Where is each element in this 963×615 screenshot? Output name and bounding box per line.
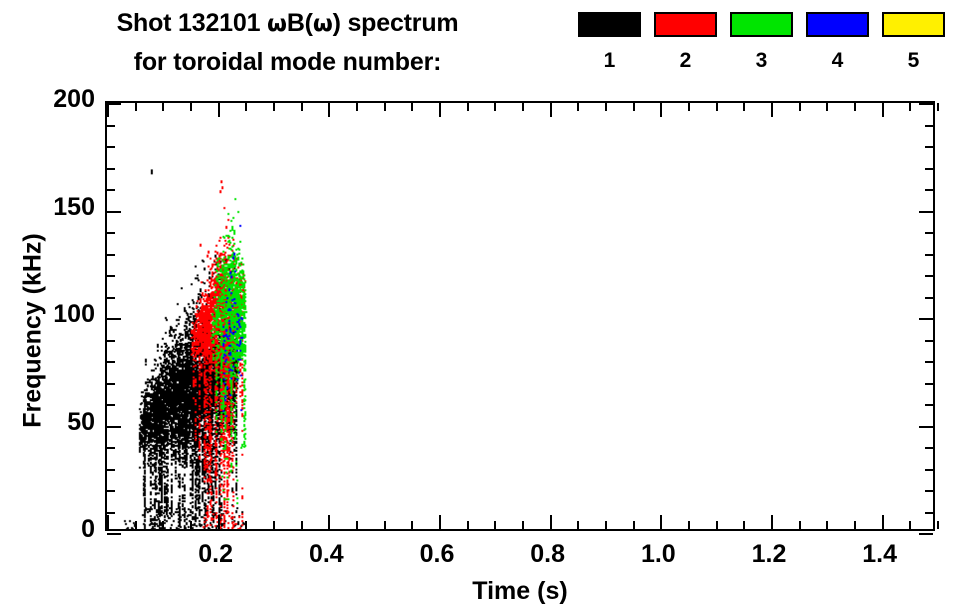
legend-item-3: 3 [730,12,793,72]
x-tick-bottom [494,521,496,529]
y-tick-right [925,189,933,191]
x-tick-bottom [660,515,662,529]
y-tick-left [107,318,121,320]
x-tick-top [301,103,303,111]
x-tick-bottom [218,515,220,529]
y-tick-right [919,103,933,105]
legend-label-2: 2 [654,50,717,72]
x-tick-top [550,103,552,117]
y-tick-label: 100 [30,300,95,329]
legend-label-3: 3 [730,50,793,72]
y-tick-left [107,103,121,105]
x-tick-bottom [716,521,718,529]
y-tick-right [925,490,933,492]
x-tick-bottom [162,521,164,529]
x-tick-bottom [356,521,358,529]
y-tick-right [919,533,933,535]
x-tick-bottom [909,521,911,529]
x-tick-bottom [937,521,939,529]
x-tick-bottom [771,515,773,529]
x-tick-top [273,103,275,111]
x-tick-top [439,103,441,117]
chart-title: Shot 132101 ωB(ω) spectrum for toroidal … [0,4,575,81]
x-tick-label: 1.2 [724,540,814,569]
x-tick-top [937,103,939,111]
x-tick-top [162,103,164,111]
y-tick-left [107,469,115,471]
x-tick-top [633,103,635,111]
y-tick-left [107,297,115,299]
omega-symbol-2: ω [313,11,333,37]
legend-swatch-3 [730,12,793,37]
y-tick-right [925,469,933,471]
x-tick-top [743,103,745,111]
title-line-1-mid: B( [287,9,313,37]
y-tick-left [107,340,115,342]
legend-label-5: 5 [882,50,945,72]
x-tick-bottom [411,521,413,529]
x-tick-bottom [743,521,745,529]
x-tick-top [107,103,109,117]
x-tick-bottom [882,515,884,529]
x-tick-label: 1.0 [613,540,703,569]
x-tick-bottom [577,521,579,529]
x-tick-top [328,103,330,117]
legend-label-1: 1 [578,50,641,72]
x-tick-top [356,103,358,111]
x-tick-label: 1.4 [835,540,925,569]
y-tick-right [919,426,933,428]
y-tick-label: 150 [30,193,95,222]
x-tick-bottom [190,521,192,529]
x-tick-top [577,103,579,111]
x-tick-top [411,103,413,111]
plot-frame [105,101,935,531]
x-tick-bottom [328,515,330,529]
x-tick-top [135,103,137,111]
x-tick-bottom [854,521,856,529]
x-tick-bottom [522,521,524,529]
x-tick-bottom [135,521,137,529]
x-tick-bottom [826,521,828,529]
x-tick-bottom [550,515,552,529]
x-tick-bottom [439,515,441,529]
y-tick-right [925,254,933,256]
y-tick-label: 200 [30,85,95,114]
x-tick-top [909,103,911,111]
y-tick-right [925,340,933,342]
y-tick-left [107,189,115,191]
x-tick-bottom [273,521,275,529]
y-tick-left [107,490,115,492]
y-tick-right [925,232,933,234]
legend-swatch-1 [578,12,641,37]
y-tick-left [107,533,121,535]
y-tick-left [107,211,121,213]
x-tick-bottom [301,521,303,529]
x-tick-top [716,103,718,111]
x-tick-top [882,103,884,117]
y-tick-left [107,361,115,363]
title-line-1-suffix: ) spectrum [333,9,459,37]
y-tick-right [925,146,933,148]
legend-label-4: 4 [806,50,869,72]
title-line-1-prefix: Shot 132101 [117,9,267,37]
y-tick-right [919,318,933,320]
x-tick-bottom [799,521,801,529]
y-tick-right [925,383,933,385]
y-tick-right [925,168,933,170]
x-tick-bottom [384,521,386,529]
legend-swatch-5 [882,12,945,37]
title-line-2: for toroidal mode number: [0,43,575,81]
x-tick-top [771,103,773,117]
x-tick-top [605,103,607,111]
x-tick-top [494,103,496,111]
y-tick-right [919,211,933,213]
chart-root: Shot 132101 ωB(ω) spectrum for toroidal … [0,0,963,615]
x-tick-top [826,103,828,111]
x-axis-title: Time (s) [105,577,935,606]
x-tick-top [799,103,801,111]
y-tick-right [925,125,933,127]
x-tick-bottom [633,521,635,529]
y-tick-left [107,426,121,428]
y-tick-left [107,168,115,170]
y-tick-left [107,146,115,148]
y-tick-right [925,361,933,363]
x-tick-top [245,103,247,111]
legend: 12345 [578,12,958,92]
legend-item-2: 2 [654,12,717,72]
x-tick-top [688,103,690,111]
y-tick-label: 50 [30,408,95,437]
x-tick-label: 0.2 [171,540,261,569]
y-tick-right [925,512,933,514]
x-tick-top [467,103,469,111]
x-tick-top [218,103,220,117]
legend-swatch-2 [654,12,717,37]
x-tick-top [522,103,524,111]
y-tick-left [107,125,115,127]
x-tick-top [190,103,192,111]
y-tick-left [107,254,115,256]
legend-item-5: 5 [882,12,945,72]
y-tick-left [107,232,115,234]
y-tick-label: 0 [30,515,95,544]
x-tick-bottom [107,515,109,529]
x-tick-top [660,103,662,117]
y-tick-right [925,297,933,299]
legend-item-4: 4 [806,12,869,72]
y-tick-right [925,275,933,277]
scatter-data-layer [107,103,933,529]
x-tick-label: 0.6 [392,540,482,569]
x-tick-bottom [688,521,690,529]
x-tick-top [854,103,856,111]
title-line-1: Shot 132101 ωB(ω) spectrum [0,4,575,43]
x-tick-top [384,103,386,111]
x-tick-bottom [467,521,469,529]
x-tick-bottom [245,521,247,529]
legend-item-1: 1 [578,12,641,72]
y-tick-left [107,275,115,277]
y-tick-left [107,512,115,514]
x-tick-label: 0.8 [503,540,593,569]
x-tick-label: 0.4 [281,540,371,569]
y-tick-left [107,404,115,406]
y-tick-right [925,447,933,449]
y-tick-right [925,404,933,406]
y-tick-left [107,383,115,385]
omega-symbol-1: ω [267,11,287,37]
legend-swatch-4 [806,12,869,37]
x-tick-bottom [605,521,607,529]
y-tick-left [107,447,115,449]
